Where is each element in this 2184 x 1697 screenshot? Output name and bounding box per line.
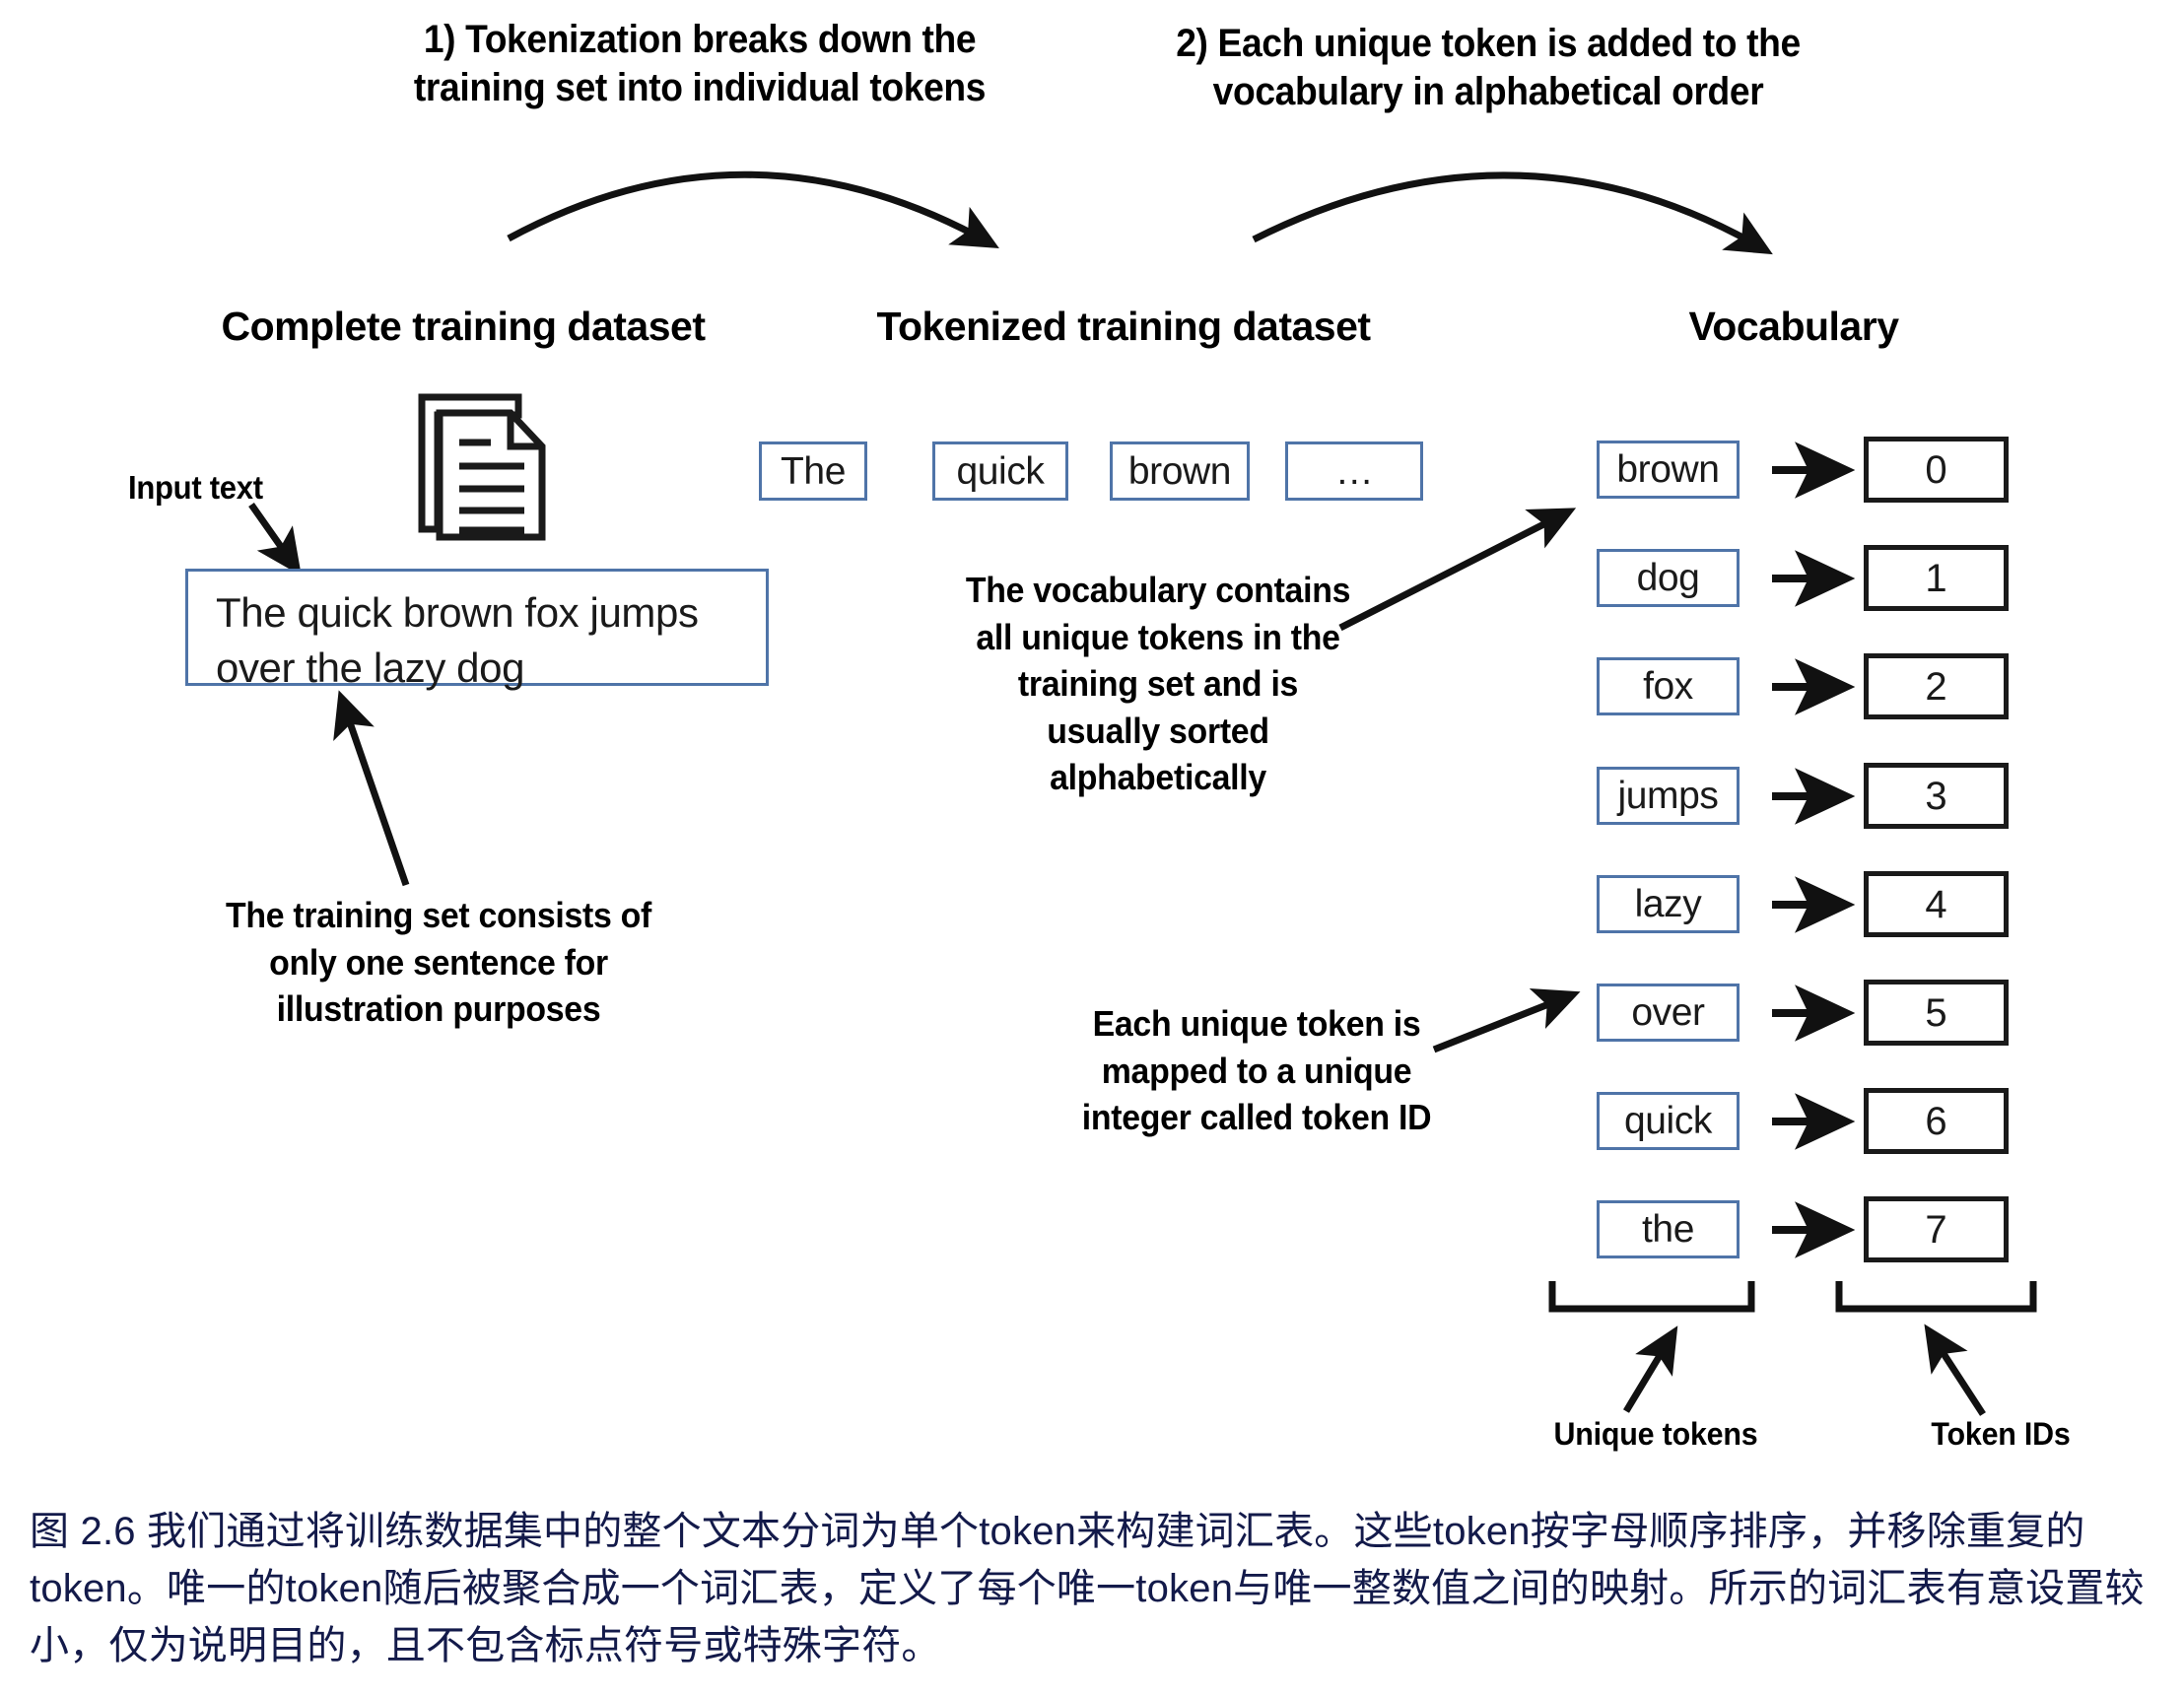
vocab-token-2: fox	[1597, 657, 1740, 715]
input-text-box: The quick brown fox jumps over the lazy …	[185, 569, 769, 686]
arrow-training-set-note	[342, 700, 406, 885]
vocab-token-3: jumps	[1597, 767, 1740, 825]
column-title-right: Vocabulary	[1528, 304, 2060, 350]
token-box-2: brown	[1110, 441, 1250, 501]
token-id-2: 2	[1864, 653, 2009, 719]
input-text-label: Input text	[128, 469, 263, 507]
vocab-token-5: over	[1597, 984, 1740, 1042]
token-box-1: quick	[932, 441, 1068, 501]
bracket-unique-tokens	[1552, 1281, 1751, 1309]
token-id-5: 5	[1864, 980, 2009, 1046]
token-id-6: 6	[1864, 1088, 2009, 1154]
figure-caption: 图 2.6 我们通过将训练数据集中的整个文本分词为单个token来构建词汇表。这…	[30, 1503, 2168, 1674]
curved-arrow-step-2	[1254, 175, 1764, 249]
token-id-note: Each unique token is mapped to a unique …	[1071, 1000, 1442, 1141]
vocab-token-7: the	[1597, 1200, 1740, 1258]
figure-canvas: 1) Tokenization breaks down the training…	[0, 0, 2184, 1697]
input-text-line-2: over the lazy dog	[216, 641, 766, 696]
vocab-token-0: brown	[1597, 441, 1740, 499]
token-id-7: 7	[1864, 1196, 2009, 1262]
token-box-3: …	[1285, 441, 1423, 501]
step-2-heading: 2) Each unique token is added to the voc…	[1168, 20, 1809, 116]
training-set-note: The training set consists of only one se…	[221, 892, 656, 1033]
bracket-token-ids	[1839, 1281, 2033, 1309]
vocabulary-note: The vocabulary contains all unique token…	[964, 567, 1353, 801]
mapping-arrows	[1772, 470, 1842, 1230]
token-ids-label: Token IDs	[1813, 1416, 2184, 1453]
vocab-token-6: quick	[1597, 1092, 1740, 1150]
column-title-middle: Tokenized training dataset	[749, 304, 1498, 350]
token-id-0: 0	[1864, 437, 2009, 503]
arrow-unique-tokens-label	[1626, 1334, 1672, 1411]
curved-arrow-step-1	[509, 174, 990, 243]
token-id-1: 1	[1864, 545, 2009, 611]
arrow-token-id-note	[1434, 995, 1571, 1050]
step-1-heading: 1) Tokenization breaks down the training…	[379, 16, 1021, 112]
arrow-vocabulary-note	[1340, 512, 1567, 628]
documents-icon	[416, 391, 554, 544]
vocab-token-4: lazy	[1597, 875, 1740, 933]
arrow-token-ids-label	[1930, 1332, 1983, 1414]
vocab-token-1: dog	[1597, 549, 1740, 607]
arrow-input-text	[251, 505, 296, 568]
token-id-4: 4	[1864, 871, 2009, 937]
input-text-line-1: The quick brown fox jumps	[216, 585, 766, 641]
token-id-3: 3	[1864, 763, 2009, 829]
unique-tokens-label: Unique tokens	[1468, 1416, 1843, 1453]
token-box-0: The	[759, 441, 867, 501]
